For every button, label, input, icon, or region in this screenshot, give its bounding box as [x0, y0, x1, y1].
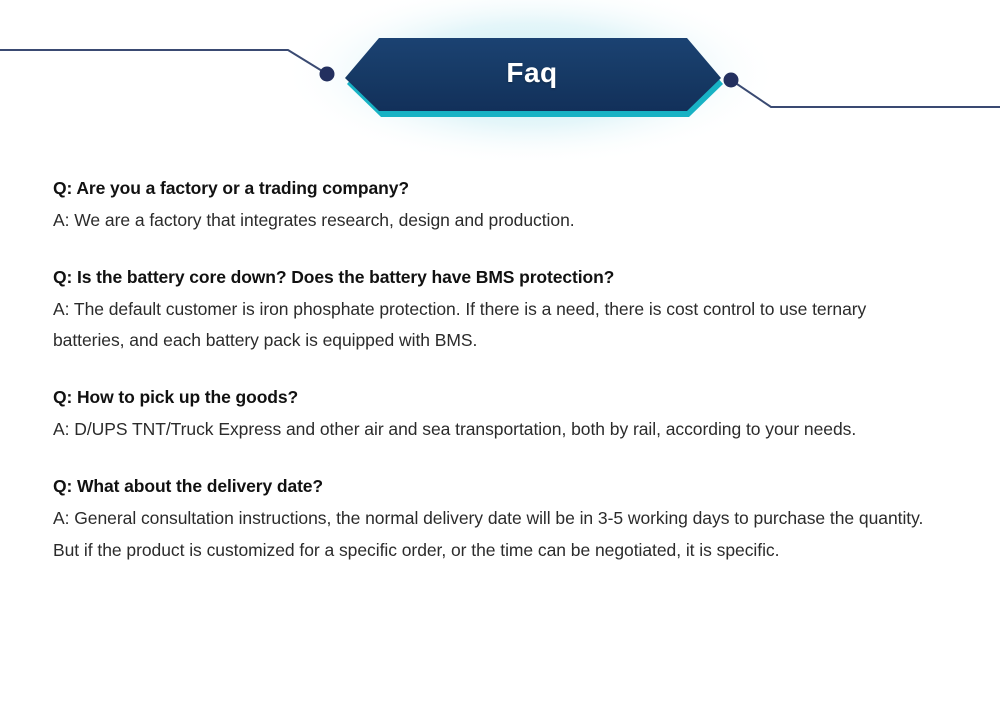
faq-item: Q: What about the delivery date? A: Gene…	[53, 474, 933, 567]
banner-graphic	[0, 0, 1000, 160]
faq-question: Q: What about the delivery date?	[53, 474, 933, 499]
faq-item: Q: Are you a factory or a trading compan…	[53, 176, 933, 237]
hexagon-banner-shape	[345, 38, 721, 111]
faq-question: Q: Are you a factory or a trading compan…	[53, 176, 933, 201]
right-node-dot	[724, 73, 739, 88]
faq-item: Q: Is the battery core down? Does the ba…	[53, 265, 933, 358]
faq-answer: A: The default customer is iron phosphat…	[53, 294, 931, 358]
faq-question: Q: Is the battery core down? Does the ba…	[53, 265, 933, 290]
faq-header-banner: Faq	[0, 0, 1000, 160]
left-node-dot	[320, 67, 335, 82]
faq-item: Q: How to pick up the goods? A: D/UPS TN…	[53, 385, 933, 446]
faq-answer: A: D/UPS TNT/Truck Express and other air…	[53, 414, 931, 446]
left-connector-line	[0, 50, 327, 74]
faq-list: Q: Are you a factory or a trading compan…	[53, 176, 933, 566]
faq-answer: A: We are a factory that integrates rese…	[53, 205, 931, 237]
faq-answer: A: General consultation instructions, th…	[53, 503, 931, 567]
faq-question: Q: How to pick up the goods?	[53, 385, 933, 410]
